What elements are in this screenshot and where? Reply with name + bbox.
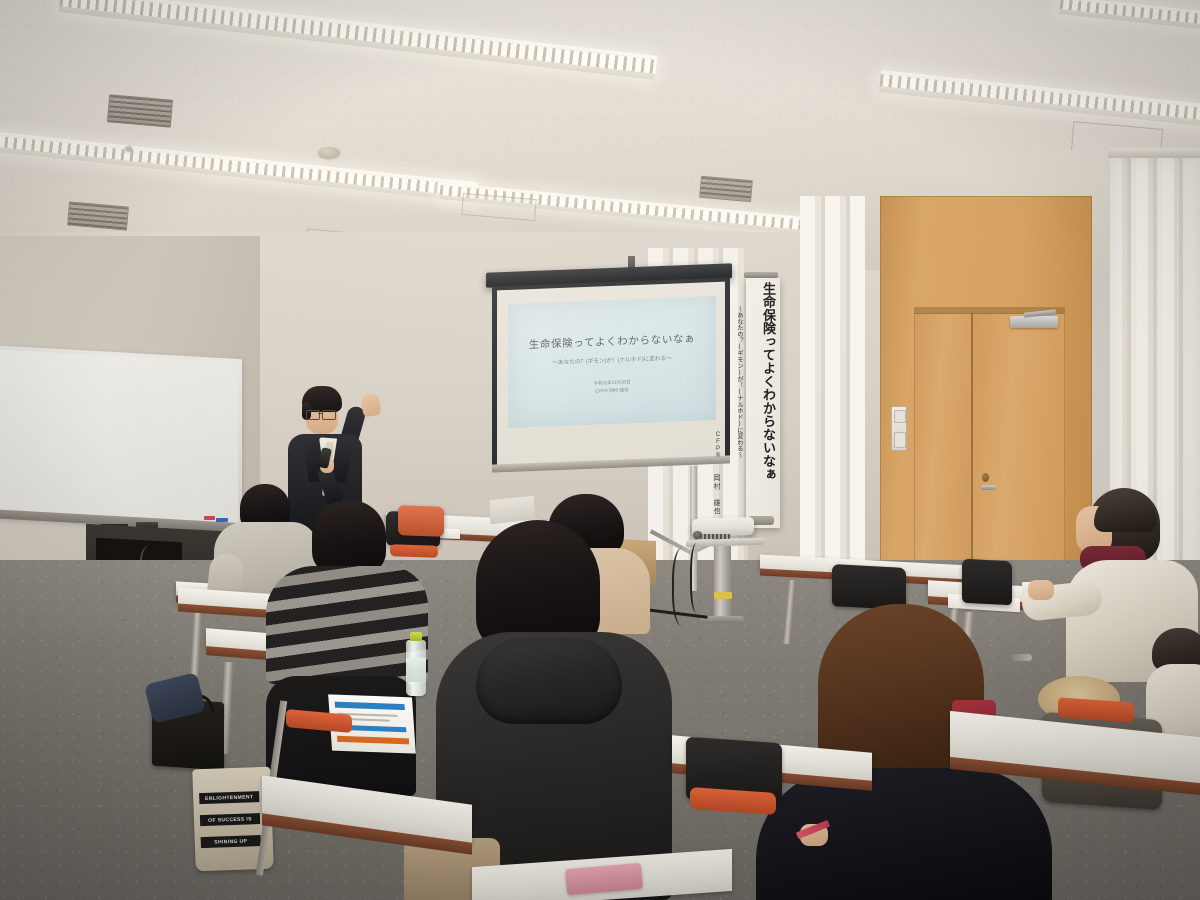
lighting-overlay xyxy=(0,0,1200,900)
seminar-room-photo: 生命保険ってよくわからないなぁ 〜あなたの？(ギモン)が！(ナルホド)に変わる〜… xyxy=(0,0,1200,900)
